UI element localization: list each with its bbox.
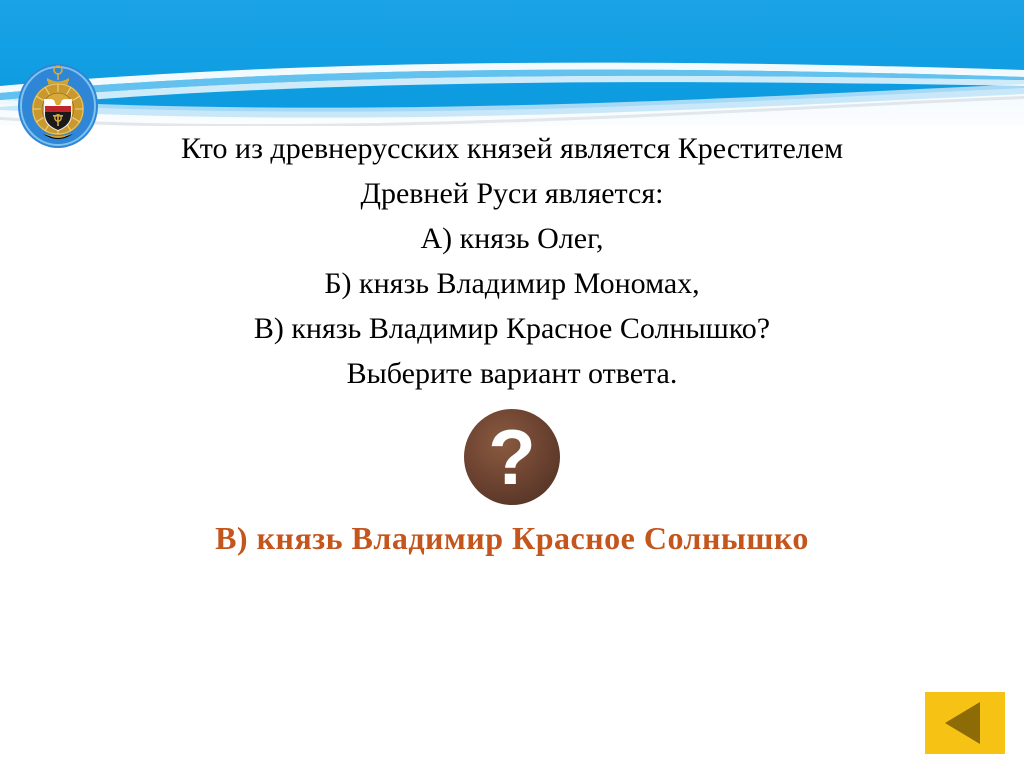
option-a: А) князь Олег,: [0, 216, 1024, 261]
back-arrow-icon: [925, 692, 1005, 754]
question-mark-icon[interactable]: ?: [460, 405, 564, 509]
answer-wrapper: В) князь Владимир Красное Солнышко: [0, 517, 1024, 559]
back-button[interactable]: [925, 692, 1005, 754]
question-line-2: Древней Руси является:: [0, 171, 1024, 216]
presentation-slide: Кто из древнерусских князей является Кре…: [0, 0, 1024, 767]
header-banner: [0, 0, 1024, 146]
banner-wave-graphic: [0, 0, 1024, 146]
answer-text: В) князь Владимир Красное Солнышко: [0, 517, 1024, 559]
option-c: В) князь Владимир Красное Солнышко?: [0, 306, 1024, 351]
question-text-block: Кто из древнерусских князей является Кре…: [0, 126, 1024, 396]
instruction-line: Выберите вариант ответа.: [0, 351, 1024, 396]
military-emblem-icon: [17, 56, 99, 148]
question-line-1: Кто из древнерусских князей является Кре…: [0, 126, 1024, 171]
question-mark-glyph: ?: [488, 413, 536, 501]
emblem: [17, 56, 99, 148]
option-b: Б) князь Владимир Мономах,: [0, 261, 1024, 306]
hint-icon-wrapper: ?: [0, 405, 1024, 509]
